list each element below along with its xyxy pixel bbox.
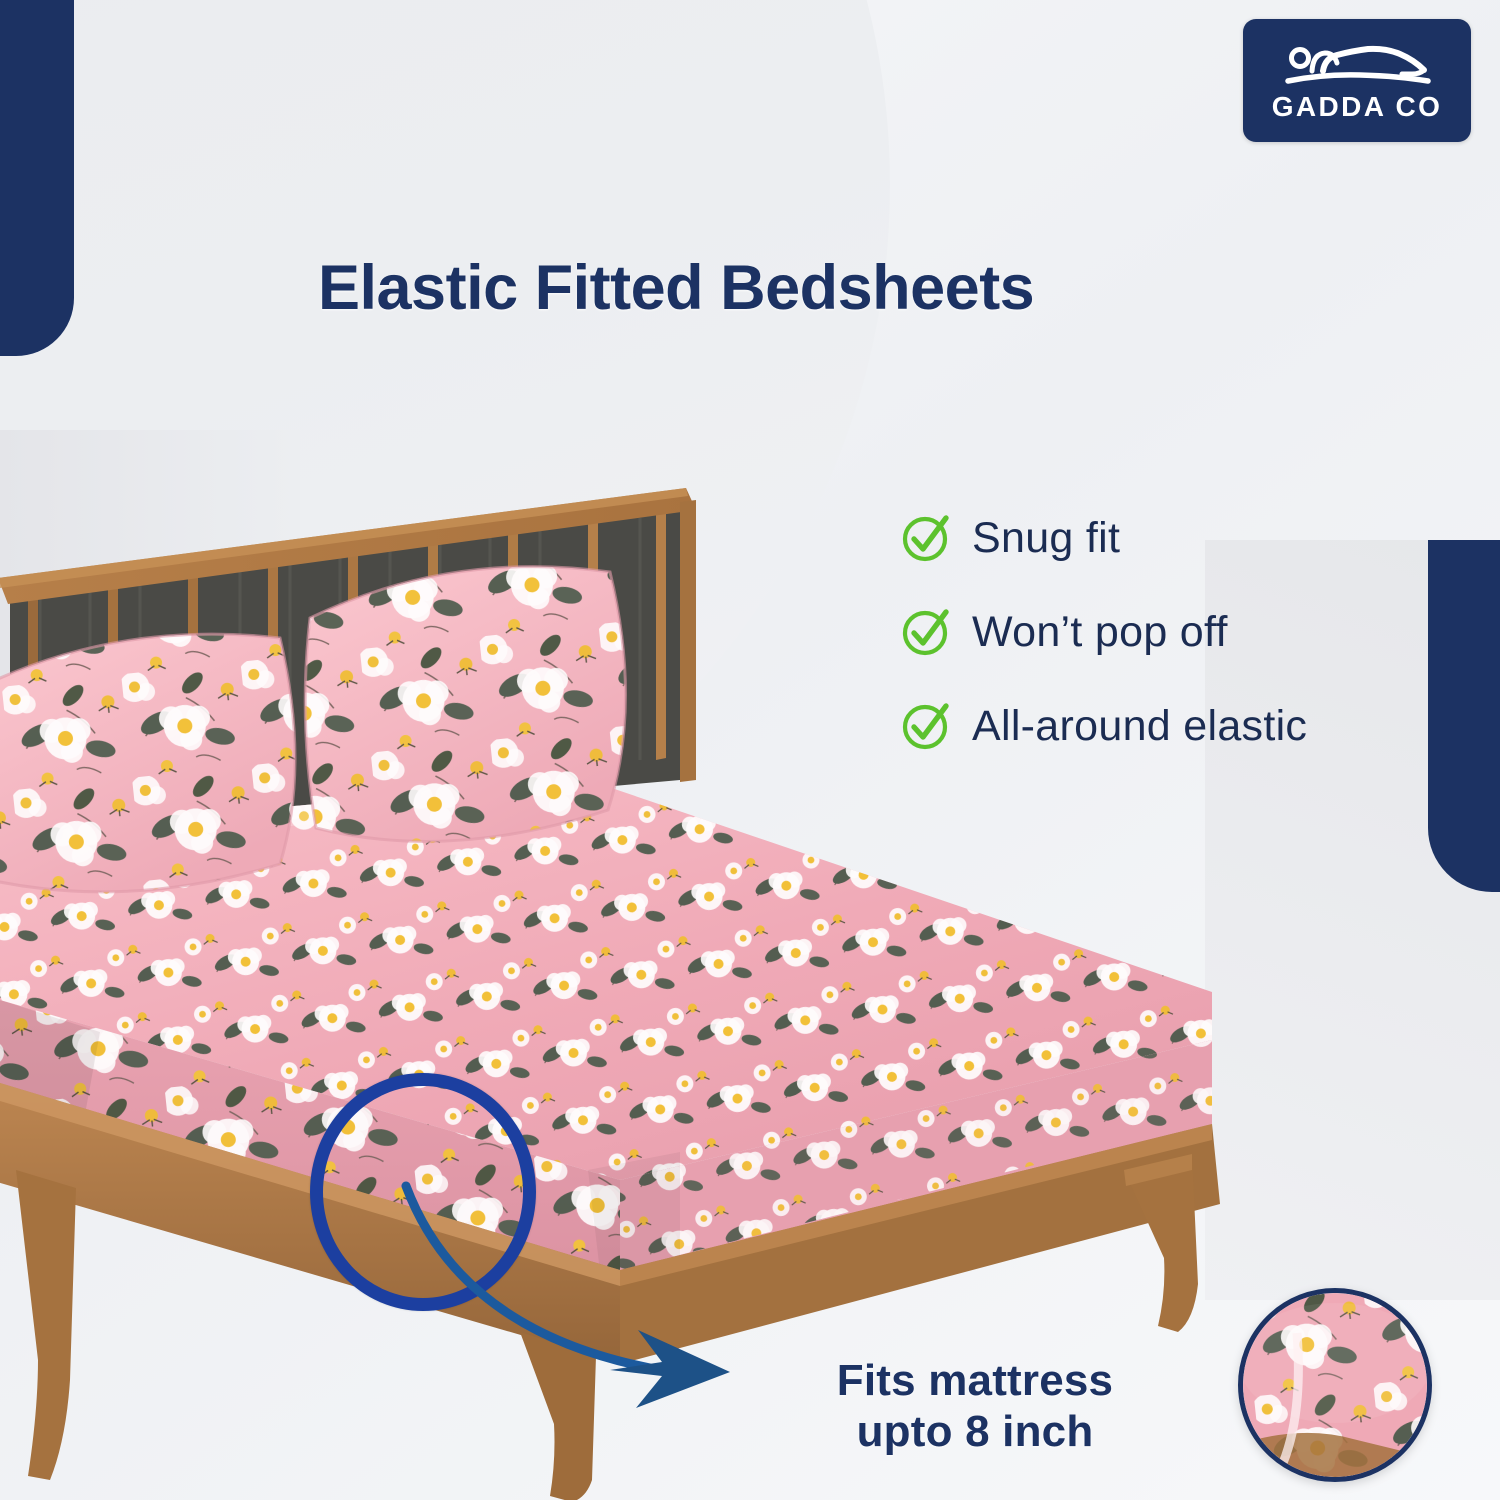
reclining-person-on-mattress-icon — [1282, 41, 1432, 89]
fitted-corner-closeup-icon — [1238, 1288, 1432, 1482]
green-circle-check-icon — [900, 512, 952, 564]
feature-label: Won’t pop off — [972, 608, 1228, 657]
page-title: Elastic Fitted Bedsheets — [318, 252, 1034, 324]
brand-logo[interactable]: GADDA CO — [1243, 19, 1471, 142]
feature-label: All-around elastic — [972, 702, 1307, 751]
logo-wordmark: GADDA CO — [1272, 91, 1443, 123]
caption-line-1: Fits mattress — [800, 1355, 1150, 1406]
poster-canvas: GADDA CO Elastic Fitted Bedsheets Snug f… — [0, 0, 1500, 1500]
feature-list: Snug fit Won’t pop off All-around elasti… — [900, 512, 1307, 794]
green-circle-check-icon — [900, 606, 952, 658]
feature-item: All-around elastic — [900, 700, 1307, 752]
green-circle-check-icon — [900, 700, 952, 752]
caption-line-2: upto 8 inch — [800, 1406, 1150, 1457]
top-left-navy-corner-shape — [0, 0, 74, 356]
feature-label: Snug fit — [972, 514, 1120, 563]
feature-item: Snug fit — [900, 512, 1307, 564]
caption-text: Fits mattress upto 8 inch — [800, 1355, 1150, 1457]
right-navy-tab-shape — [1428, 540, 1500, 892]
curved-arrow-icon — [400, 1180, 820, 1410]
feature-item: Won’t pop off — [900, 606, 1307, 658]
